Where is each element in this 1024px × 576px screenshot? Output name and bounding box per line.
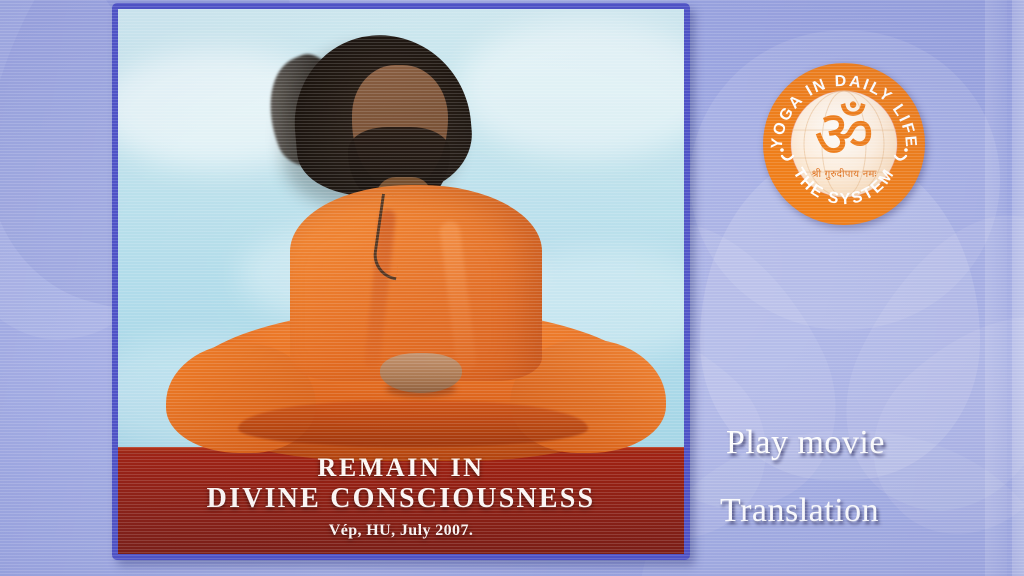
yoga-in-daily-life-logo: YOGA IN DAILY LIFE THE SYSTEM ॐ श्री गुर… — [762, 62, 926, 226]
menu-item-translation[interactable]: Translation — [720, 492, 1000, 530]
cover-title-line-2: DIVINE CONSCIOUSNESS — [118, 482, 684, 515]
cover-subtitle: Vép, HU, July 2007. — [118, 522, 684, 540]
cover-caption: REMAIN IN DIVINE CONSCIOUSNESS Vép, HU, … — [118, 453, 684, 540]
cover-art-frame: REMAIN IN DIVINE CONSCIOUSNESS Vép, HU, … — [112, 3, 690, 560]
folded-hands — [380, 353, 462, 393]
logo-right-dot — [904, 148, 908, 152]
menu-item-play-movie[interactable]: Play movie — [726, 424, 1000, 462]
orange-robe-torso — [290, 185, 542, 381]
cover-title-line-1: REMAIN IN — [118, 453, 684, 482]
cover-photograph: REMAIN IN DIVINE CONSCIOUSNESS Vép, HU, … — [118, 9, 684, 554]
menu-list: Play movie Translation — [700, 424, 1000, 530]
logo-left-dot — [780, 148, 784, 152]
background-right-edge-band — [1012, 0, 1024, 576]
robe-shin-fold — [238, 401, 588, 447]
dvd-menu-screen: REMAIN IN DIVINE CONSCIOUSNESS Vép, HU, … — [0, 0, 1024, 576]
